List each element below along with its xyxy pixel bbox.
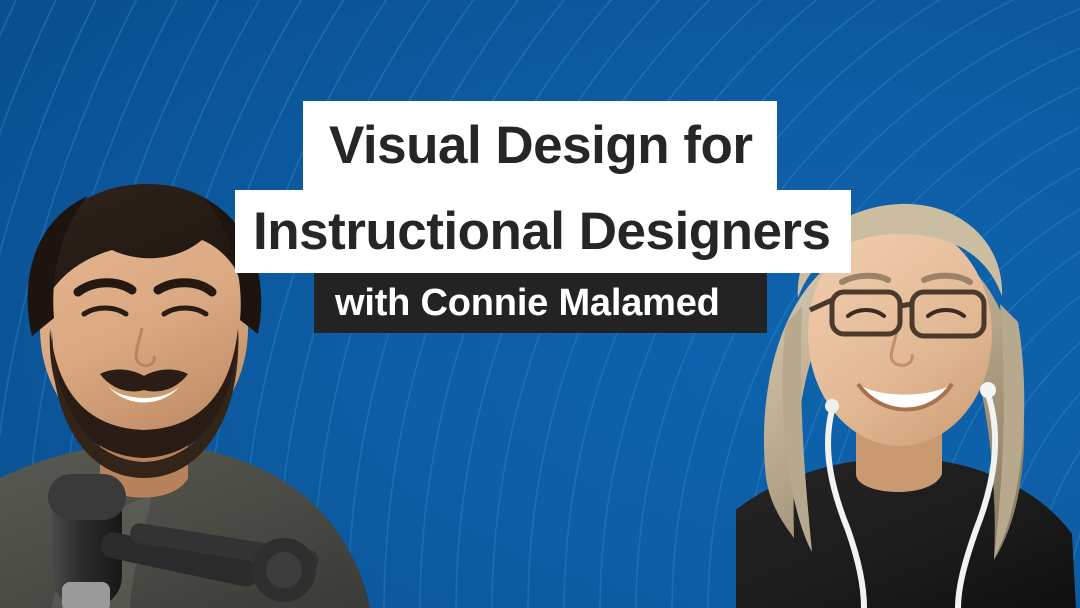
earbud-left	[825, 399, 839, 413]
title-line-2-box: Instructional Designers	[235, 190, 851, 273]
title-line-1-text: Visual Design for	[329, 119, 752, 172]
title-line-2-text: Instructional Designers	[253, 205, 831, 258]
subtitle-text: with Connie Malamed	[335, 284, 720, 322]
video-thumbnail: Visual Design for Instructional Designer…	[0, 0, 1080, 608]
subtitle-box: with Connie Malamed	[314, 273, 767, 333]
title-line-1-box: Visual Design for	[303, 101, 777, 190]
earbud-right	[980, 382, 996, 398]
